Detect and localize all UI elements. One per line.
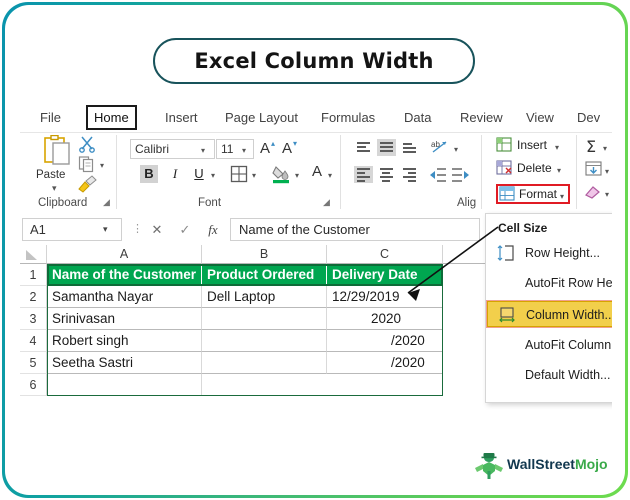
group-separator <box>576 135 577 209</box>
insert-cells-icon[interactable] <box>496 137 513 153</box>
menu-item-label: Row Height... <box>525 240 600 266</box>
logo-text: WallStreetMojo <box>507 456 608 472</box>
group-separator <box>481 135 482 209</box>
fill-color-chevron-down-icon[interactable]: ▾ <box>295 171 299 180</box>
format-button-highlight <box>496 184 570 204</box>
table-cell[interactable]: Name of the Customer <box>47 264 202 286</box>
table-cell[interactable]: Robert singh <box>47 330 202 352</box>
fill-color-icon[interactable] <box>272 164 291 184</box>
borders-chevron-down-icon[interactable]: ▾ <box>252 171 256 180</box>
column-header-b[interactable]: B <box>202 245 327 264</box>
group-separator <box>116 135 117 209</box>
logo-text-part2: Mojo <box>575 456 608 472</box>
clear-eraser-icon[interactable] <box>584 184 602 200</box>
table-cell[interactable]: Seetha Sastri <box>47 352 202 374</box>
align-left-icon[interactable] <box>354 166 373 183</box>
row-height-icon <box>497 245 515 261</box>
row-header-2[interactable]: 2 <box>20 286 47 308</box>
corner-triangle-icon <box>26 250 37 260</box>
autosum-icon[interactable]: Σ <box>586 137 596 156</box>
fill-chevron-down-icon[interactable]: ▾ <box>605 167 609 176</box>
worksheet-grid: A B C 1 2 3 4 5 6 Name of the Customer P… <box>20 245 490 435</box>
tab-home[interactable]: Home <box>86 105 137 130</box>
table-cell[interactable]: Delivery Date <box>327 264 443 286</box>
orientation-icon[interactable]: ab <box>430 138 450 156</box>
font-color-icon[interactable]: A <box>312 163 322 180</box>
logo-text-part1: WallStreet <box>507 456 575 472</box>
grow-font-arrow-icon: ▴ <box>271 139 275 148</box>
table-cell[interactable]: /2020 <box>327 352 443 374</box>
italic-button[interactable]: I <box>166 165 184 183</box>
formula-bar-grip: ⋮ <box>132 222 143 235</box>
menu-item-row-height[interactable]: Row Height... <box>487 240 612 266</box>
menu-item-autofit-column-width[interactable]: AutoFit Column W <box>487 332 612 358</box>
table-cell[interactable] <box>202 330 327 352</box>
tab-insert[interactable]: Insert <box>159 107 204 129</box>
table-cell[interactable]: Dell Laptop <box>202 286 327 308</box>
autosum-chevron-down-icon[interactable]: ▾ <box>603 144 607 153</box>
clipboard-dialog-launcher-icon[interactable]: ◢ <box>103 197 110 208</box>
table-cell[interactable]: Srinivasan <box>47 308 202 330</box>
formula-confirm-icon[interactable]: ✓ <box>172 219 198 240</box>
align-right-icon[interactable] <box>400 166 419 183</box>
table-cell[interactable] <box>202 352 327 374</box>
decrease-indent-icon[interactable] <box>429 167 447 183</box>
underline-button[interactable]: U <box>190 165 208 183</box>
row-header-1[interactable]: 1 <box>20 264 47 286</box>
menu-item-column-width[interactable]: Column Width... <box>487 301 612 327</box>
menu-section-heading: Cell Size <box>498 221 547 235</box>
tab-file[interactable]: File <box>34 107 67 129</box>
menu-item-autofit-row-height[interactable]: AutoFit Row Heigh <box>487 270 612 296</box>
font-size-chevron-down-icon[interactable]: ▾ <box>242 146 246 155</box>
column-header-d[interactable] <box>443 245 490 264</box>
font-group-label: Font <box>198 197 221 209</box>
page-title-pill: Excel Column Width <box>153 38 475 84</box>
tab-view[interactable]: View <box>520 107 560 129</box>
paste-chevron-down-icon[interactable]: ▾ <box>52 183 57 194</box>
clipboard-group-label: Clipboard <box>38 197 87 209</box>
cut-scissors-icon[interactable] <box>78 135 96 153</box>
tab-developer[interactable]: Dev <box>571 107 606 129</box>
table-cell[interactable]: Product Ordered <box>202 264 327 286</box>
orientation-chevron-down-icon[interactable]: ▾ <box>454 145 458 154</box>
copy-icon[interactable] <box>78 155 96 173</box>
align-middle-icon[interactable] <box>377 139 396 156</box>
font-dialog-launcher-icon[interactable]: ◢ <box>323 197 330 208</box>
insert-chevron-down-icon[interactable]: ▾ <box>555 143 559 152</box>
row-header-5[interactable]: 5 <box>20 352 47 374</box>
clear-chevron-down-icon[interactable]: ▾ <box>605 190 609 199</box>
align-top-icon[interactable] <box>354 139 373 156</box>
table-cell[interactable]: Samantha Nayar <box>47 286 202 308</box>
ribbon-body: Paste ▾ ▾ Clipboard ◢ <box>20 133 612 213</box>
font-size-field[interactable]: 11 <box>216 139 254 159</box>
select-all-corner[interactable] <box>20 245 47 264</box>
row-header-6[interactable]: 6 <box>20 374 47 396</box>
column-width-icon <box>498 307 516 323</box>
font-name-chevron-down-icon[interactable]: ▾ <box>201 146 205 155</box>
increase-indent-icon[interactable] <box>452 167 470 183</box>
paste-label[interactable]: Paste <box>36 169 65 181</box>
formula-cancel-icon[interactable]: ✕ <box>144 219 170 240</box>
delete-cells-button[interactable]: Delete <box>517 161 552 175</box>
font-color-chevron-down-icon[interactable]: ▾ <box>328 171 332 180</box>
copy-chevron-down-icon[interactable]: ▾ <box>100 161 104 170</box>
align-center-icon[interactable] <box>377 166 396 183</box>
menu-item-label: AutoFit Column W <box>525 332 612 358</box>
group-separator <box>340 135 341 209</box>
page-root: Excel Column Width File Home Insert Page… <box>0 0 630 500</box>
formula-input[interactable]: Name of the Customer <box>230 218 480 241</box>
excel-screenshot: File Home Insert Page Layout Formulas Da… <box>20 105 612 435</box>
tab-data[interactable]: Data <box>398 107 437 129</box>
shrink-font-arrow-icon: ▾ <box>293 139 297 148</box>
row-header-3[interactable]: 3 <box>20 308 47 330</box>
align-bottom-icon[interactable] <box>400 139 419 156</box>
grow-font-icon[interactable]: A <box>260 140 270 157</box>
page-title: Excel Column Width <box>194 49 433 73</box>
fill-down-icon[interactable] <box>585 161 602 177</box>
row-header-4[interactable]: 4 <box>20 330 47 352</box>
table-cell[interactable] <box>47 374 202 396</box>
delete-chevron-down-icon[interactable]: ▾ <box>557 166 561 175</box>
tab-review[interactable]: Review <box>454 107 509 129</box>
menu-item-label: Default Width... <box>525 362 610 388</box>
insert-cells-button[interactable]: Insert <box>517 138 547 152</box>
shrink-font-icon[interactable]: A <box>282 140 292 157</box>
delete-cells-icon[interactable] <box>496 160 513 176</box>
format-painter-icon[interactable] <box>76 175 98 193</box>
column-header-a[interactable]: A <box>47 245 202 264</box>
menu-item-label: Column Width... <box>526 302 612 328</box>
tab-formulas[interactable]: Formulas <box>315 107 381 129</box>
borders-icon[interactable] <box>230 165 248 183</box>
wallstreetmojo-logo: WallStreetMojo <box>474 452 614 480</box>
column-header-c[interactable]: C <box>327 245 443 264</box>
underline-chevron-down-icon[interactable]: ▾ <box>211 171 215 180</box>
logo-mark-icon <box>474 452 504 480</box>
table-cell[interactable]: 12/29/2019 <box>327 286 443 308</box>
format-dropdown-menu: Cell Size Row Height... AutoFit Row Heig… <box>485 213 612 403</box>
menu-item-label: AutoFit Row Heigh <box>525 270 612 296</box>
ribbon-tab-bar: File Home Insert Page Layout Formulas Da… <box>20 105 612 132</box>
tab-page-layout[interactable]: Page Layout <box>219 107 304 129</box>
bold-button[interactable]: B <box>140 165 158 183</box>
alignment-group-label: Alig <box>457 197 476 209</box>
table-cell[interactable]: /2020 <box>327 330 443 352</box>
insert-function-icon[interactable]: fx <box>200 219 226 240</box>
menu-item-default-width[interactable]: Default Width... <box>487 362 612 388</box>
table-cell[interactable] <box>202 308 327 330</box>
table-cell[interactable]: 2020 <box>327 308 443 330</box>
name-box-chevron-down-icon[interactable]: ▾ <box>103 224 108 235</box>
paste-icon[interactable] <box>42 135 72 169</box>
